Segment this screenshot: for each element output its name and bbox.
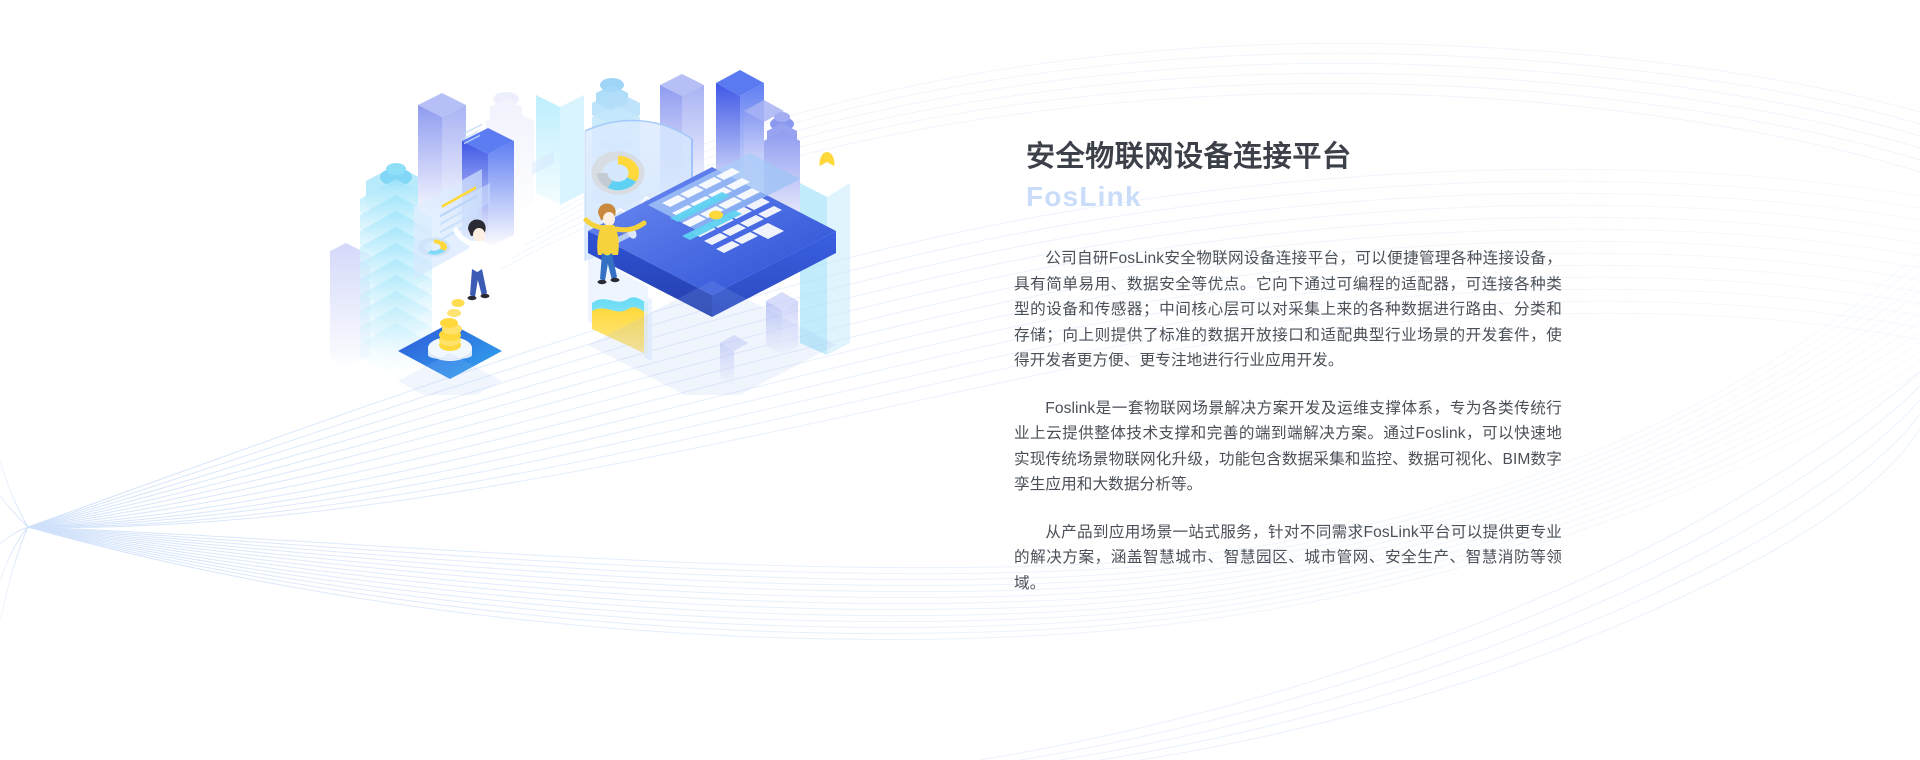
product-name-subtitle: FosLink xyxy=(1026,178,1562,216)
hero-content: 安全物联网设备连接平台 FosLink 公司自研FosLink安全物联网设备连接… xyxy=(1014,138,1562,596)
body-paragraph-2: Foslink是一套物联网场景解决方案开发及运维支撑体系，专为各类传统行业上云提… xyxy=(1014,396,1562,498)
page-root: 安全物联网设备连接平台 FosLink 公司自研FosLink安全物联网设备连接… xyxy=(0,0,1920,760)
hero-illustration xyxy=(330,55,850,395)
body-paragraph-1: 公司自研FosLink安全物联网设备连接平台，可以便捷管理各种连接设备，具有简单… xyxy=(1014,246,1562,374)
page-title: 安全物联网设备连接平台 xyxy=(1026,138,1562,176)
body-paragraph-3: 从产品到应用场景一站式服务，针对不同需求FosLink平台可以提供更专业的解决方… xyxy=(1014,520,1562,597)
background-wave-pattern xyxy=(0,0,1920,760)
grid-coin xyxy=(709,211,723,220)
skyscraper-cyan-1 xyxy=(536,83,584,205)
